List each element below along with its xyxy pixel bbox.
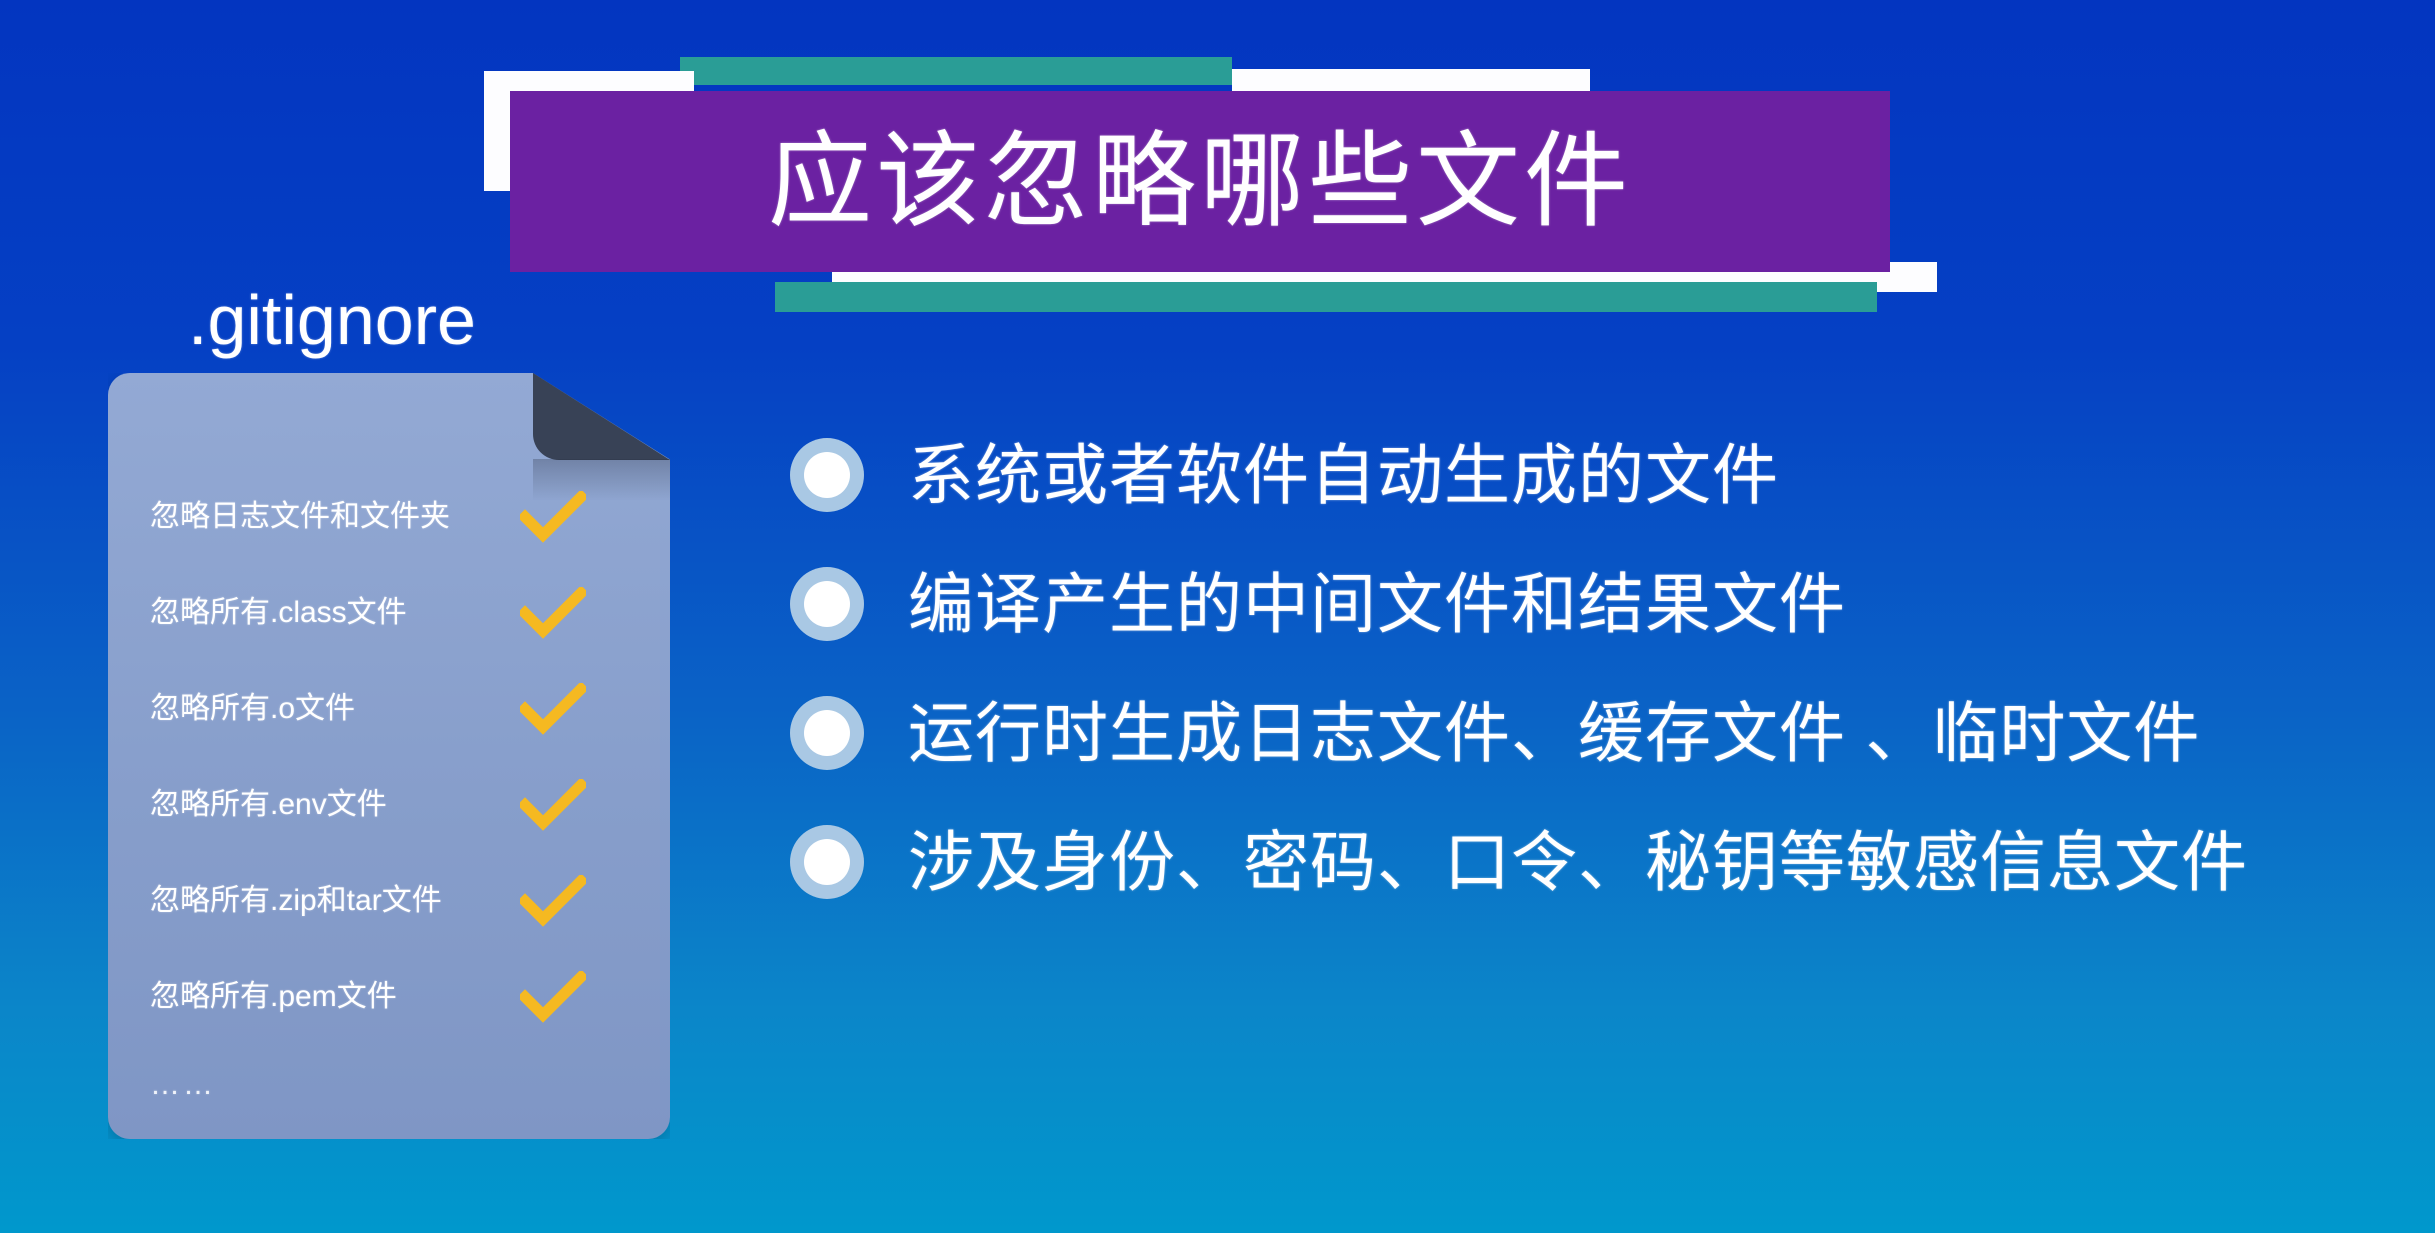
check-icon — [520, 683, 586, 735]
circle-bullet-icon — [790, 567, 864, 641]
list-item: 忽略所有.pem文件 — [108, 949, 670, 1045]
circle-bullet-inner — [804, 839, 850, 885]
title-banner-group: 应该忽略哪些文件 — [0, 0, 2435, 320]
circle-bullet-icon — [790, 696, 864, 770]
bullet-item: 运行时生成日志文件、缓存文件 、临时文件 — [790, 668, 2435, 797]
bullet-text: 运行时生成日志文件、缓存文件 、临时文件 — [908, 700, 2200, 766]
gitignore-rule-list: 忽略日志文件和文件夹 忽略所有.class文件 忽略所有.o文件 — [108, 469, 670, 1125]
list-item: 忽略日志文件和文件夹 — [108, 469, 670, 565]
gitignore-label: .gitignore — [188, 285, 476, 355]
rule-text: 忽略所有.o文件 — [150, 694, 355, 724]
list-item: 忽略所有.class文件 — [108, 565, 670, 661]
presentation-slide: 应该忽略哪些文件 .gitignore 忽略日志文件和文件夹 忽略所有.clas… — [0, 0, 2435, 1233]
bullet-text: 编译产生的中间文件和结果文件 — [908, 571, 1846, 637]
list-item: 忽略所有.o文件 — [108, 661, 670, 757]
bullet-text: 涉及身份、密码、口令、秘钥等敏感信息文件 — [908, 829, 2248, 895]
list-item: 忽略所有.env文件 — [108, 757, 670, 853]
circle-bullet-icon — [790, 438, 864, 512]
accent-bar-teal-bottom — [775, 282, 1877, 312]
slide-title: 应该忽略哪些文件 — [510, 91, 1890, 272]
check-icon — [520, 779, 586, 831]
rule-text: 忽略所有.pem文件 — [150, 982, 397, 1012]
ignore-category-list: 系统或者软件自动生成的文件 编译产生的中间文件和结果文件 运行时生成日志文件、缓… — [790, 410, 2435, 926]
check-icon — [520, 491, 586, 543]
circle-bullet-inner — [804, 710, 850, 756]
gitignore-note-card: 忽略日志文件和文件夹 忽略所有.class文件 忽略所有.o文件 — [108, 373, 670, 1139]
rule-text: 忽略日志文件和文件夹 — [150, 502, 450, 532]
rule-text: …… — [150, 1070, 216, 1100]
list-item: 忽略所有.zip和tar文件 — [108, 853, 670, 949]
bullet-item: 涉及身份、密码、口令、秘钥等敏感信息文件 — [790, 797, 2435, 926]
check-icon — [520, 587, 586, 639]
circle-bullet-inner — [804, 452, 850, 498]
list-item-ellipsis: …… — [108, 1045, 670, 1125]
bullet-item: 系统或者软件自动生成的文件 — [790, 410, 2435, 539]
bullet-item: 编译产生的中间文件和结果文件 — [790, 539, 2435, 668]
circle-bullet-icon — [790, 825, 864, 899]
rule-text: 忽略所有.zip和tar文件 — [150, 886, 442, 916]
check-icon — [520, 971, 586, 1023]
bullet-text: 系统或者软件自动生成的文件 — [908, 442, 1779, 508]
rule-text: 忽略所有.env文件 — [150, 790, 387, 820]
accent-bar-teal-top — [680, 57, 1232, 85]
page-fold-icon — [533, 373, 670, 460]
circle-bullet-inner — [804, 581, 850, 627]
check-icon — [520, 875, 586, 927]
rule-text: 忽略所有.class文件 — [150, 598, 407, 628]
